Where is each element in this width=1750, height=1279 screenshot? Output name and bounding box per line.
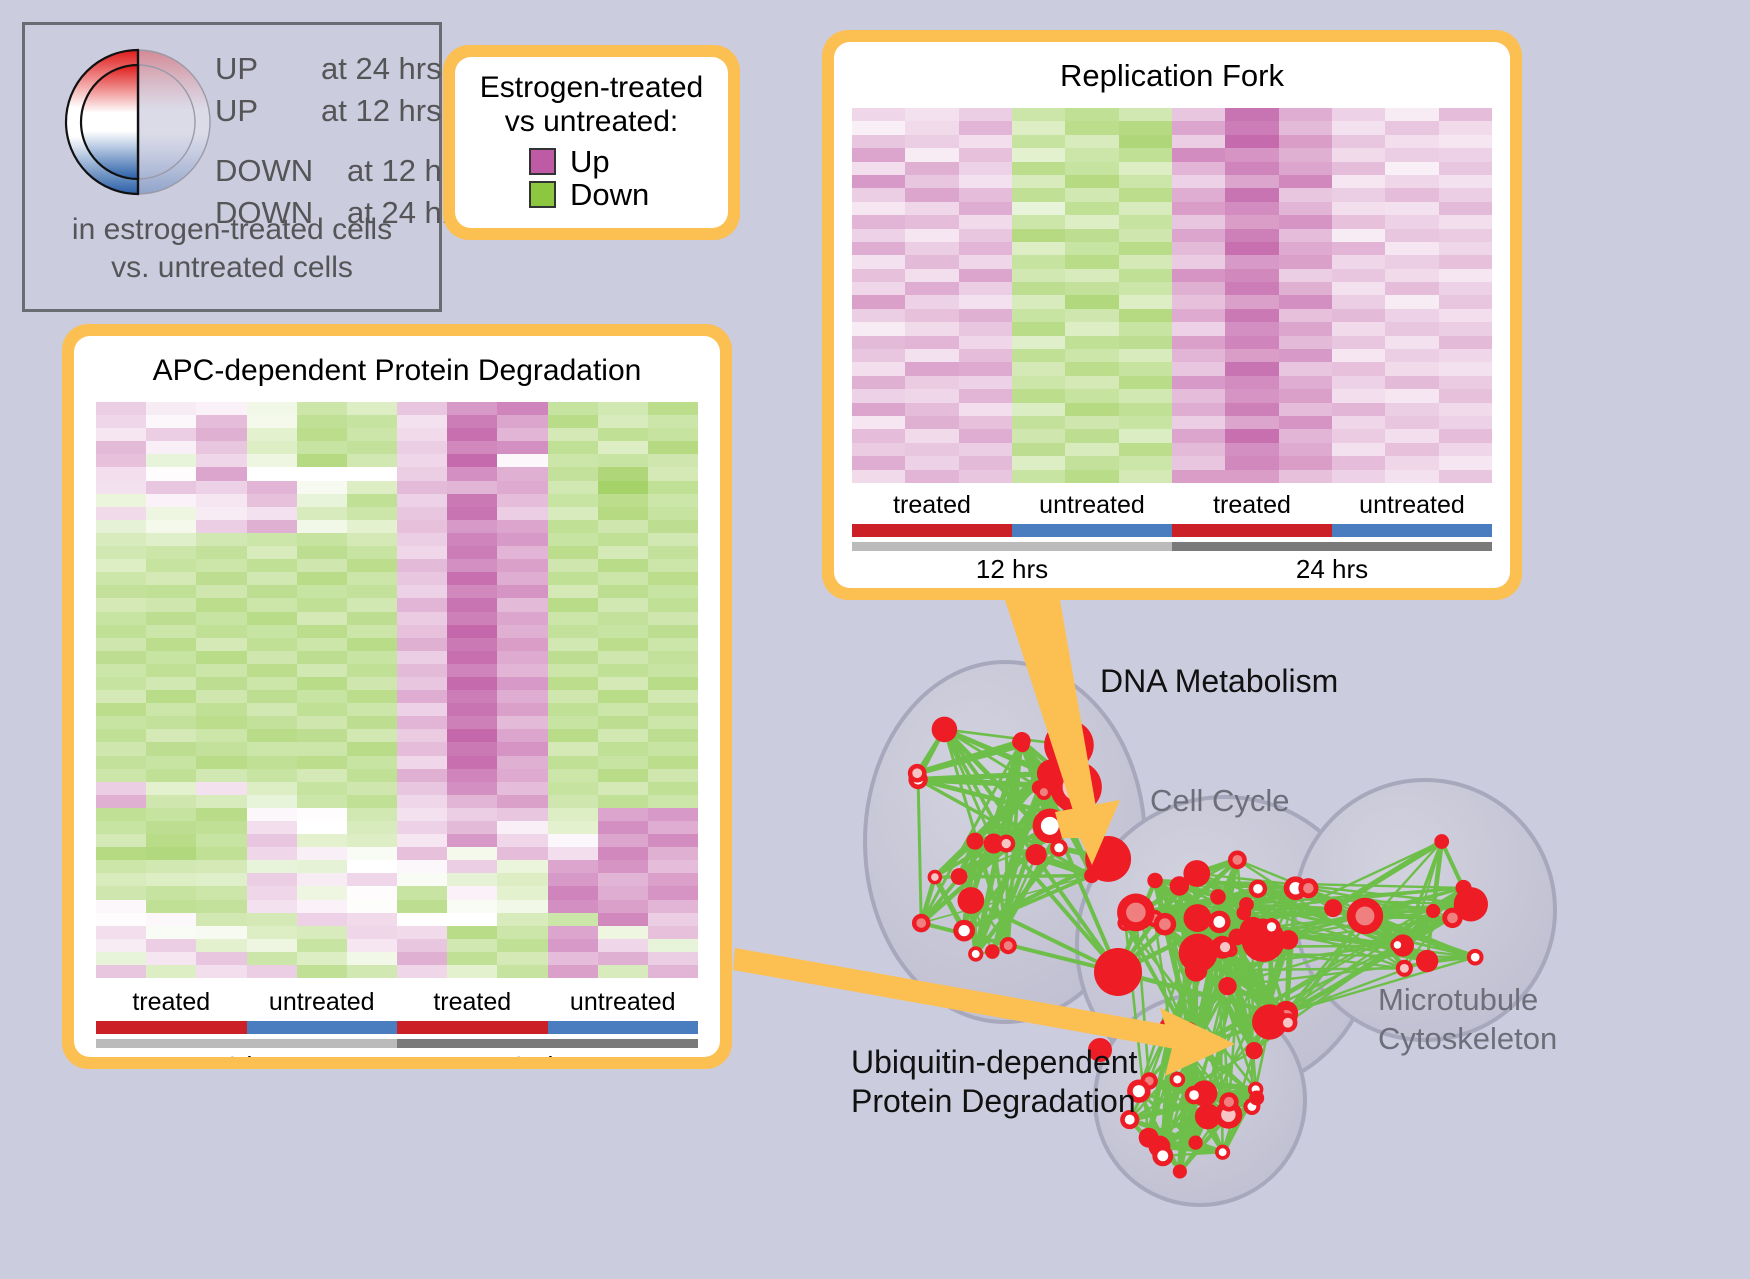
network-node[interactable]	[1170, 1072, 1186, 1088]
heatmap-cell	[247, 598, 297, 611]
heatmap-cell	[146, 690, 196, 703]
heatmap-cell	[196, 703, 246, 716]
heatmap-cell	[447, 834, 497, 847]
heatmap-cell	[1439, 456, 1492, 469]
network-node[interactable]	[1059, 810, 1074, 825]
heatmap-cell	[1279, 255, 1332, 268]
heatmap-cell	[852, 135, 905, 148]
heatmap-cell	[1012, 175, 1065, 188]
network-node[interactable]	[968, 946, 983, 961]
heatmap-cell	[96, 782, 146, 795]
heatmap-cell	[247, 769, 297, 782]
heatmap-cell	[497, 926, 547, 939]
network-node[interactable]	[1094, 948, 1142, 996]
rf-cond-2: treated	[1172, 491, 1332, 520]
heatmap-cell	[1119, 429, 1172, 442]
network-node[interactable]	[908, 764, 927, 783]
node-outer-ring	[1249, 1090, 1264, 1105]
heatmap-cell	[297, 926, 347, 939]
heatmap-cell	[648, 481, 698, 494]
heatmap-cell	[598, 782, 648, 795]
network-node[interactable]	[966, 833, 983, 850]
heatmap-cell	[548, 690, 598, 703]
heatmap-cell	[1225, 309, 1278, 322]
heatmap-cell	[196, 520, 246, 533]
heatmap-cell	[297, 494, 347, 507]
network-node[interactable]	[1396, 960, 1413, 977]
heatmap-cell	[1332, 389, 1385, 402]
heatmap-cell	[1065, 362, 1118, 375]
heatmap-cell	[648, 598, 698, 611]
heatmap-cell	[297, 690, 347, 703]
heatmap-cell	[648, 415, 698, 428]
network-node[interactable]	[912, 914, 931, 933]
heatmap-cell	[497, 965, 547, 978]
heatmap-cell	[247, 638, 297, 651]
condition-bar-segment	[1332, 524, 1492, 537]
heatmap-cell	[1172, 470, 1225, 483]
network-node[interactable]	[1208, 911, 1231, 934]
rf-cond-1: untreated	[1012, 491, 1172, 520]
apc-degradation-panel: APC-dependent Protein Degradation treate…	[62, 324, 732, 1069]
heatmap-cell	[1012, 349, 1065, 362]
heatmap-cell	[598, 441, 648, 454]
network-node[interactable]	[1347, 898, 1383, 934]
heatmap-cell	[1332, 429, 1385, 442]
heatmap-cell	[397, 729, 447, 742]
heatmap-cell	[548, 585, 598, 598]
heatmap-cell	[648, 520, 698, 533]
network-node[interactable]	[1434, 834, 1449, 849]
heatmap-cell	[297, 638, 347, 651]
heatmap-cell	[648, 729, 698, 742]
node-inner-core	[1189, 1090, 1199, 1100]
network-node[interactable]	[928, 870, 943, 885]
heatmap-cell	[1332, 443, 1385, 456]
heatmap-cell	[447, 703, 497, 716]
heatmap-cell	[1012, 242, 1065, 255]
heatmap-cell	[852, 202, 905, 215]
heatmap-cell	[905, 269, 958, 282]
heatmap-cell	[1279, 336, 1332, 349]
heatmap-cell	[1439, 242, 1492, 255]
heatmap-cell	[96, 651, 146, 664]
heatmap-cell	[959, 322, 1012, 335]
node-outer-ring	[937, 721, 954, 738]
heatmap-cell	[1439, 108, 1492, 121]
heatmap-cell	[146, 782, 196, 795]
heatmap-cell	[397, 677, 447, 690]
heatmap-cell	[1119, 389, 1172, 402]
heatmap-cell	[347, 952, 397, 965]
network-node[interactable]	[1050, 839, 1068, 857]
heatmap-cell	[1439, 470, 1492, 483]
heatmap-cell	[1332, 416, 1385, 429]
heatmap-cell	[1065, 215, 1118, 228]
heatmap-cell	[1172, 389, 1225, 402]
heatmap-cell	[905, 229, 958, 242]
heatmap-cell	[397, 441, 447, 454]
heatmap-cell	[598, 926, 648, 939]
heatmap-cell	[397, 533, 447, 546]
node-inner-core	[916, 918, 926, 928]
heatmap-cell	[1012, 322, 1065, 335]
heatmap-cell	[648, 860, 698, 873]
heatmap-cell	[1012, 229, 1065, 242]
heatmap-cell	[1065, 162, 1118, 175]
heatmap-cell	[96, 690, 146, 703]
node-inner-core	[958, 925, 969, 936]
heatmap-cell	[146, 769, 196, 782]
heatmap-cell	[648, 612, 698, 625]
network-node[interactable]	[1298, 878, 1318, 898]
heatmap-cell	[959, 108, 1012, 121]
heatmap-cell	[397, 402, 447, 415]
rf-cond-0: treated	[852, 491, 1012, 520]
network-node[interactable]	[1183, 860, 1210, 887]
heatmap-cell	[1439, 309, 1492, 322]
network-node[interactable]	[1218, 977, 1236, 995]
heatmap-cell	[397, 494, 447, 507]
heatmap-cell	[347, 441, 397, 454]
heatmap-cell	[548, 913, 598, 926]
heatmap-cell	[1119, 135, 1172, 148]
heatmap-cell	[852, 349, 905, 362]
network-node[interactable]	[1195, 1104, 1221, 1130]
heatmap-cell	[447, 808, 497, 821]
heatmap-cell	[548, 795, 598, 808]
heatmap-cell	[548, 716, 598, 729]
heatmap-cell	[196, 873, 246, 886]
network-node[interactable]	[1219, 1092, 1238, 1111]
heatmap-cell	[1065, 322, 1118, 335]
heatmap-cell	[196, 598, 246, 611]
node-inner-core	[1004, 941, 1013, 950]
heatmap-cell	[347, 834, 397, 847]
heatmap-cell	[1065, 269, 1118, 282]
node-inner-core	[1054, 843, 1063, 852]
network-node[interactable]	[997, 835, 1015, 853]
node-outer-ring	[1084, 868, 1099, 883]
network-node[interactable]	[1152, 1145, 1173, 1166]
heatmap-cell	[1119, 470, 1172, 483]
heatmap-cell	[852, 309, 905, 322]
heatmap-cell	[447, 886, 497, 899]
heatmap-cell	[247, 834, 297, 847]
key-footer: in estrogen-treated cells vs. untreated …	[25, 211, 439, 287]
heatmap-cell	[146, 520, 196, 533]
heatmap-cell	[146, 651, 196, 664]
network-node[interactable]	[1117, 894, 1155, 932]
heatmap-cell	[447, 598, 497, 611]
heatmap-cell	[96, 585, 146, 598]
heatmap-cell	[1385, 416, 1438, 429]
heatmap-cell	[1279, 349, 1332, 362]
heatmap-cell	[598, 638, 648, 651]
node-outer-ring	[1324, 899, 1342, 917]
heatmap-cell	[447, 402, 497, 415]
heatmap-cell	[196, 428, 246, 441]
network-node[interactable]	[957, 887, 984, 914]
node-outer-ring	[1188, 1135, 1202, 1149]
network-node[interactable]	[1050, 761, 1102, 813]
heatmap-cell	[96, 494, 146, 507]
heatmap-cell	[1119, 376, 1172, 389]
heatmap-cell	[1065, 349, 1118, 362]
network-node[interactable]	[1239, 897, 1254, 912]
heatmap-cell	[1385, 135, 1438, 148]
network-node[interactable]	[1036, 784, 1052, 800]
condition-bar-segment	[852, 524, 1012, 537]
heatmap-cell	[1012, 470, 1065, 483]
heatmap-cell	[96, 467, 146, 480]
heatmap-cell	[447, 860, 497, 873]
heatmap-cell	[598, 494, 648, 507]
heatmap-cell	[1119, 336, 1172, 349]
heatmap-cell	[397, 939, 447, 952]
heatmap-cell	[852, 456, 905, 469]
heatmap-cell	[96, 860, 146, 873]
heatmap-cell	[1119, 162, 1172, 175]
heatmap-cell	[297, 533, 347, 546]
heatmap-cell	[1012, 135, 1065, 148]
network-node[interactable]	[1416, 950, 1438, 972]
heatmap-cell	[397, 716, 447, 729]
network-node[interactable]	[1025, 844, 1046, 865]
heatmap-cell	[497, 756, 547, 769]
heatmap-cell	[347, 769, 397, 782]
apc-time-0: 12 hrs	[96, 1051, 397, 1057]
heatmap-cell	[297, 598, 347, 611]
heatmap-cell	[1332, 202, 1385, 215]
node-inner-core	[1253, 884, 1263, 894]
heatmap-cell	[397, 703, 447, 716]
heatmap-cell	[247, 808, 297, 821]
network-node[interactable]	[1012, 733, 1029, 750]
network-node[interactable]	[1456, 880, 1472, 896]
heatmap-cell	[297, 769, 347, 782]
node-outer-ring	[1094, 948, 1142, 996]
heatmap-cell	[96, 952, 146, 965]
network-node[interactable]	[1154, 913, 1177, 936]
heatmap-cell	[196, 677, 246, 690]
heatmap-cell	[548, 677, 598, 690]
network-node[interactable]	[1426, 904, 1440, 918]
heatmap-cell	[497, 677, 547, 690]
network-node[interactable]	[1185, 959, 1208, 982]
heatmap-cell	[247, 886, 297, 899]
node-outer-ring	[1416, 950, 1438, 972]
heatmap-cell	[297, 612, 347, 625]
heatmap-cell	[598, 533, 648, 546]
heatmap-cell	[852, 403, 905, 416]
heatmap-cell	[297, 441, 347, 454]
heatmap-cell	[196, 939, 246, 952]
heatmap-cell	[347, 860, 397, 873]
heatmap-cell	[959, 121, 1012, 134]
network-node[interactable]	[1173, 1164, 1187, 1178]
heatmap-cell	[852, 443, 905, 456]
network-node[interactable]	[1228, 929, 1245, 946]
heatmap-cell	[447, 520, 497, 533]
heatmap-cell	[648, 821, 698, 834]
heatmap-cell	[598, 769, 648, 782]
network-node[interactable]	[1185, 1086, 1204, 1105]
heatmap-cell	[1119, 215, 1172, 228]
network-node[interactable]	[1084, 868, 1099, 883]
network-node[interactable]	[1210, 889, 1226, 905]
heatmap-cell	[1439, 255, 1492, 268]
heatmap-cell	[397, 769, 447, 782]
network-node[interactable]	[1278, 1013, 1297, 1032]
updown-legend-panel: Estrogen-treated vs untreated: Up Down	[443, 45, 740, 240]
label-cell-cycle: Cell Cycle	[1150, 783, 1290, 819]
heatmap-cell	[1119, 108, 1172, 121]
heatmap-cell	[397, 847, 447, 860]
network-node[interactable]	[951, 868, 968, 885]
heatmap-cell	[247, 664, 297, 677]
node-outer-ring	[1183, 860, 1210, 887]
network-node[interactable]	[1263, 918, 1281, 936]
node-outer-ring	[1245, 1042, 1262, 1059]
network-node[interactable]	[1215, 1145, 1230, 1160]
network-node[interactable]	[1249, 880, 1267, 898]
heatmap-cell	[852, 175, 905, 188]
heatmap-cell	[648, 454, 698, 467]
network-node[interactable]	[1249, 1090, 1264, 1105]
heatmap-cell	[548, 952, 598, 965]
heatmap-cell	[347, 939, 397, 952]
heatmap-cell	[1172, 443, 1225, 456]
network-node[interactable]	[1000, 937, 1017, 954]
network-node[interactable]	[1390, 938, 1404, 952]
heatmap-cell	[96, 546, 146, 559]
node-inner-core	[1056, 732, 1082, 758]
network-node[interactable]	[1228, 850, 1247, 869]
heatmap-cell	[447, 782, 497, 795]
network-node[interactable]	[1175, 1022, 1200, 1047]
heatmap-cell	[196, 952, 246, 965]
heatmap-cell	[247, 926, 297, 939]
heatmap-cell	[1119, 309, 1172, 322]
network-node[interactable]	[1324, 899, 1342, 917]
heatmap-cell	[852, 322, 905, 335]
node-inner-core	[1173, 1075, 1181, 1083]
heatmap-cell	[1439, 322, 1492, 335]
heatmap-cell	[447, 729, 497, 742]
heatmap-cell	[1119, 349, 1172, 362]
heatmap-cell	[1065, 470, 1118, 483]
network-node[interactable]	[1184, 904, 1212, 932]
label-dna-metabolism: DNA Metabolism	[1100, 663, 1338, 700]
heatmap-cell	[397, 808, 447, 821]
heatmap-cell	[146, 939, 196, 952]
network-node[interactable]	[1467, 949, 1484, 966]
heatmap-cell	[959, 282, 1012, 295]
heatmap-cell	[347, 900, 397, 913]
heatmap-cell	[648, 467, 698, 480]
replication-fork-heatmap	[852, 108, 1492, 483]
heatmap-cell	[196, 900, 246, 913]
heatmap-cell	[548, 507, 598, 520]
key-word-down-12: DOWN	[215, 153, 313, 189]
heatmap-cell	[96, 913, 146, 926]
heatmap-cell	[1172, 255, 1225, 268]
network-node[interactable]	[1245, 1042, 1262, 1059]
heatmap-cell	[852, 229, 905, 242]
heatmap-cell	[146, 913, 196, 926]
network-node[interactable]	[1069, 822, 1084, 837]
heatmap-cell	[196, 926, 246, 939]
heatmap-cell	[497, 860, 547, 873]
heatmap-cell	[1439, 416, 1492, 429]
heatmap-cell	[959, 269, 1012, 282]
heatmap-cell	[1172, 242, 1225, 255]
heatmap-cell	[297, 965, 347, 978]
heatmap-cell	[548, 769, 598, 782]
heatmap-cell	[598, 559, 648, 572]
network-node[interactable]	[985, 944, 1000, 959]
heatmap-cell	[548, 926, 598, 939]
heatmap-cell	[648, 494, 698, 507]
heatmap-cell	[1225, 188, 1278, 201]
heatmap-cell	[1065, 443, 1118, 456]
heatmap-cell	[648, 939, 698, 952]
heatmap-cell	[852, 336, 905, 349]
heatmap-cell	[1065, 403, 1118, 416]
heatmap-cell	[548, 520, 598, 533]
heatmap-cell	[196, 533, 246, 546]
heatmap-cell	[96, 664, 146, 677]
heatmap-cell	[247, 795, 297, 808]
heatmap-cell	[1012, 269, 1065, 282]
heatmap-cell	[548, 572, 598, 585]
heatmap-cell	[959, 349, 1012, 362]
heatmap-cell	[347, 651, 397, 664]
node-inner-core	[1400, 964, 1409, 973]
heatmap-cell	[648, 402, 698, 415]
heatmap-cell	[1332, 376, 1385, 389]
heatmap-cell	[247, 415, 297, 428]
network-node[interactable]	[937, 721, 954, 738]
heatmap-cell	[1439, 295, 1492, 308]
heatmap-cell	[297, 520, 347, 533]
rf-time-1: 24 hrs	[1172, 554, 1492, 585]
heatmap-cell	[397, 690, 447, 703]
heatmap-cell	[297, 716, 347, 729]
heatmap-cell	[1279, 269, 1332, 282]
heatmap-cell	[1439, 175, 1492, 188]
heatmap-cell	[247, 467, 297, 480]
network-node[interactable]	[953, 920, 975, 942]
heatmap-cell	[1332, 282, 1385, 295]
heatmap-cell	[905, 215, 958, 228]
heatmap-cell	[1172, 175, 1225, 188]
network-node[interactable]	[1188, 1135, 1202, 1149]
heatmap-cell	[247, 585, 297, 598]
heatmap-cell	[146, 507, 196, 520]
heatmap-cell	[397, 756, 447, 769]
rf-time-labels: 12 hrs 24 hrs	[852, 554, 1492, 585]
heatmap-cell	[297, 572, 347, 585]
network-node[interactable]	[1147, 873, 1163, 889]
heatmap-cell	[397, 520, 447, 533]
heatmap-cell	[146, 612, 196, 625]
heatmap-cell	[1385, 121, 1438, 134]
heatmap-cell	[1332, 456, 1385, 469]
node-inner-core	[1355, 906, 1374, 925]
heatmap-cell	[146, 454, 196, 467]
